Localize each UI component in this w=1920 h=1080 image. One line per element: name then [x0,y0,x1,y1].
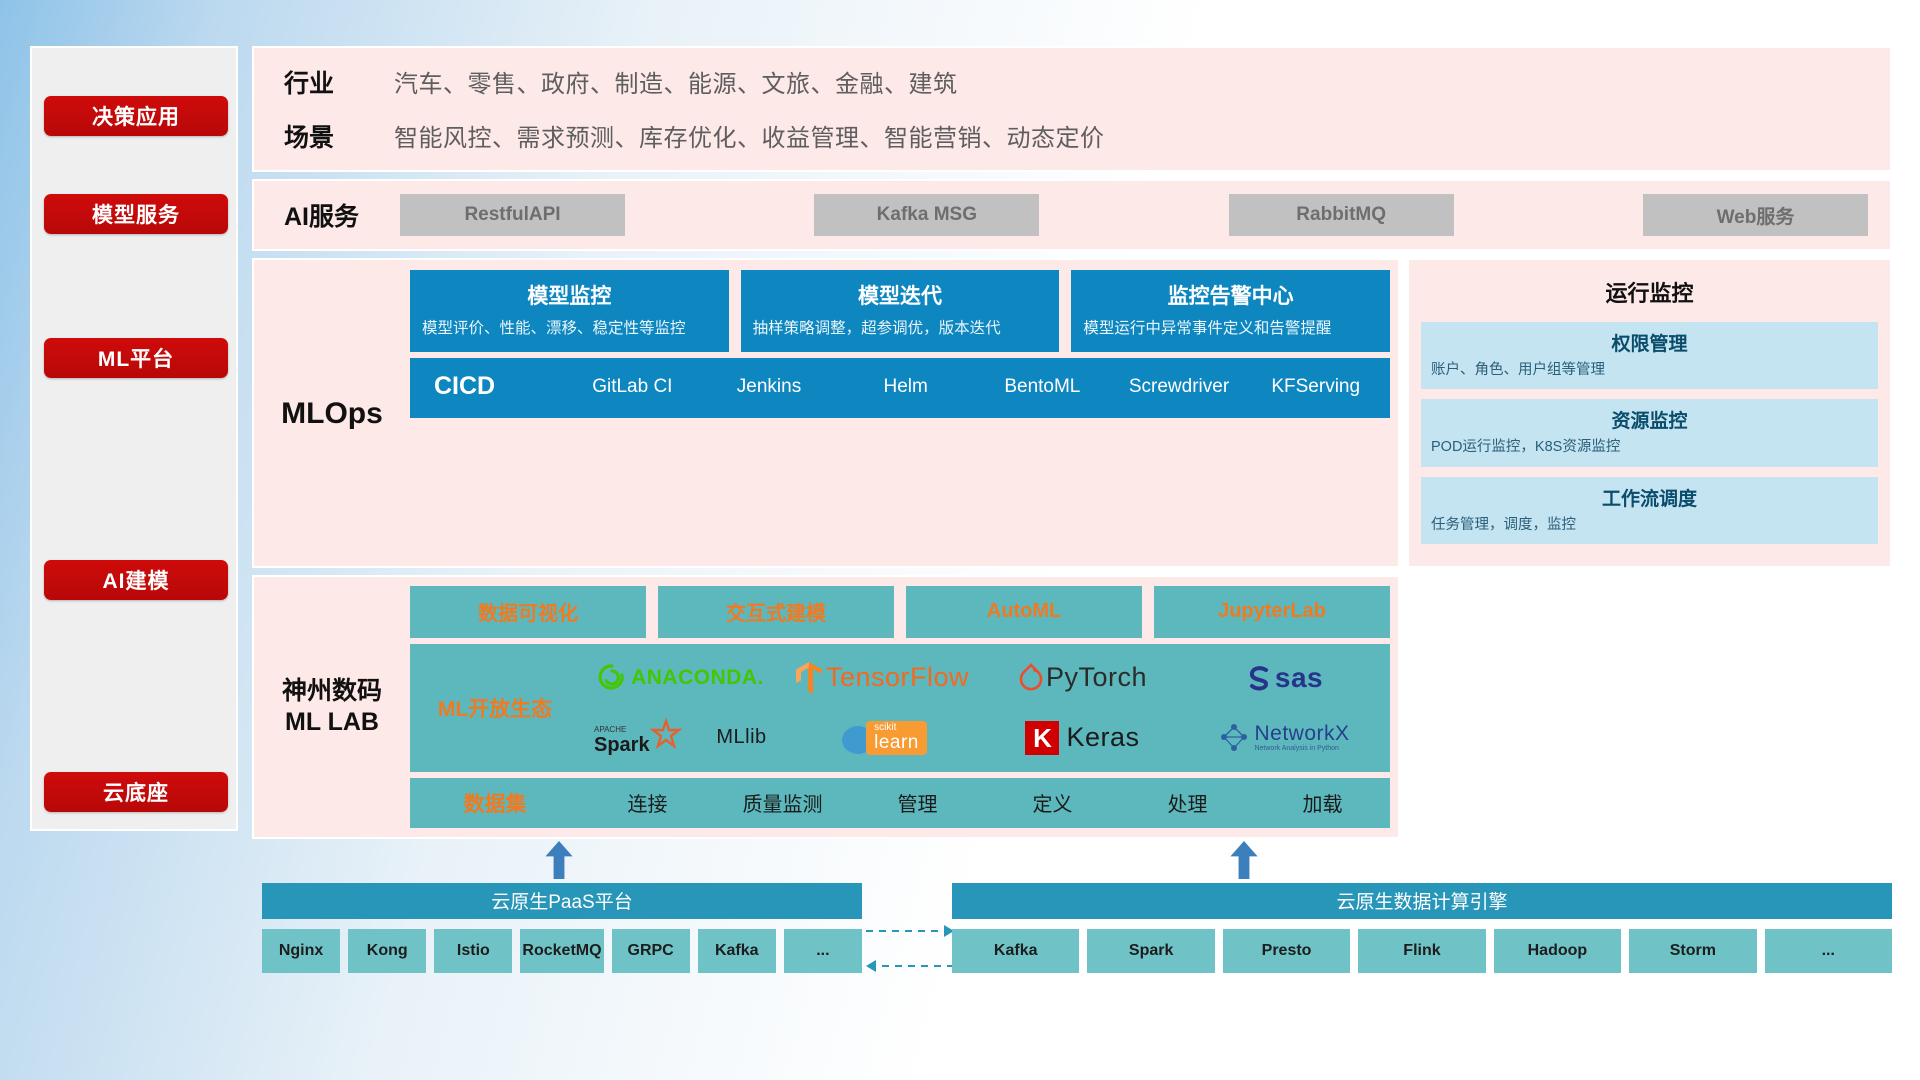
rail-item-cloud-base[interactable]: 云底座 [44,772,228,812]
paas-platform-header: 云原生PaaS平台 [262,883,862,919]
dataset-item-connect[interactable]: 连接 [580,788,715,817]
sas-icon [1244,663,1274,693]
ai-service-chip-restfulapi[interactable]: RestfulAPI [400,194,625,236]
networkx-icon [1217,721,1251,755]
architecture-diagram: 决策应用 模型服务 ML平台 AI建模 云底座 行业 汽车、零售、政府、制造、能… [0,0,1920,1080]
mlops-card-alert-center[interactable]: 监控告警中心 模型运行中异常事件定义和告警提醒 [1071,270,1390,352]
monitor-rail-spacer [1407,575,1892,839]
monitor-rail-title: 运行监控 [1421,276,1878,308]
ml-ecosystem-panel: ML开放生态 ANACONDA. [410,644,1390,772]
card-title: 工作流调度 [1431,484,1868,511]
scikit-learn-wordmark: learn [874,733,919,752]
paas-chip-kafka[interactable]: Kafka [698,929,776,973]
dataset-item-load[interactable]: 加载 [1255,788,1390,817]
card-desc: 账户、角色、用户组等管理 [1431,360,1868,380]
card-desc: 抽样策略调整，超参调优，版本迭代 [753,318,1048,340]
mlops-band: MLOps 模型监控 模型评价、性能、漂移、稳定性等监控 模型迭代 抽样策略调整… [252,258,1892,568]
paas-chip-istio[interactable]: Istio [434,929,512,973]
cicd-item-kfserving[interactable]: KFServing [1247,372,1384,400]
rail-item-ml-platform[interactable]: ML平台 [44,338,228,378]
industry-label: 行业 [284,64,394,100]
card-desc: 模型评价、性能、漂移、稳定性等监控 [422,318,717,340]
card-desc: 模型运行中异常事件定义和告警提醒 [1083,318,1378,340]
compute-chip-flink[interactable]: Flink [1358,929,1485,973]
paas-chip-rocketmq[interactable]: RocketMQ [520,929,603,973]
layer-rail: 决策应用 模型服务 ML平台 AI建模 云底座 [30,46,238,831]
paas-chip-kong[interactable]: Kong [348,929,426,973]
spark-icon: APACHE Spark [594,715,712,761]
tensorflow-wordmark: TensorFlow [826,662,969,693]
arrow-up-paas-icon [542,841,576,879]
rail-item-model-service[interactable]: 模型服务 [44,194,228,234]
ai-service-chip-kafka-msg[interactable]: Kafka MSG [814,194,1039,236]
mlops-card-model-iteration[interactable]: 模型迭代 抽样策略调整，超参调优，版本迭代 [741,270,1060,352]
paas-chip-more[interactable]: ... [784,929,862,973]
dataset-item-process[interactable]: 处理 [1120,788,1255,817]
ai-service-band: AI服务 RestfulAPI Kafka MSG RabbitMQ Web服务 [252,179,1892,251]
card-title: 模型监控 [422,280,717,310]
ml-lab-band: 神州数码 ML LAB 数据可视化 交互式建模 AutoML JupyterLa… [252,575,1892,839]
cloud-base-band: 云原生PaaS平台 Nginx Kong Istio RocketMQ GRPC… [252,853,1892,1003]
rail-item-ai-modeling[interactable]: AI建模 [44,560,228,600]
dataset-item-define[interactable]: 定义 [985,788,1120,817]
card-title: 模型迭代 [753,280,1048,310]
ml-ecosystem-label: ML开放生态 [410,693,580,723]
networkx-tagline: Network Analysis in Python [1254,744,1349,753]
compute-chip-spark[interactable]: Spark [1087,929,1214,973]
mlops-label: MLOps [254,270,410,558]
mllib-wordmark: MLlib [716,726,766,749]
dataset-item-manage[interactable]: 管理 [850,788,985,817]
cicd-item-helm[interactable]: Helm [837,372,974,400]
arrow-up-compute-icon [1227,841,1261,879]
industry-row: 行业 汽车、零售、政府、制造、能源、文旅、金融、建筑 [284,64,1890,100]
ml-lab-label-line1: 神州数码 [282,676,382,707]
card-title: 监控告警中心 [1083,280,1378,310]
tensorflow-logo: TensorFlow [781,649,982,707]
lab-tool-interactive-modeling[interactable]: 交互式建模 [658,586,894,638]
industry-values: 汽车、零售、政府、制造、能源、文旅、金融、建筑 [394,64,958,99]
scikit-learn-badge: scikit learn [866,721,927,755]
card-title: 资源监控 [1431,406,1868,433]
compute-chip-kafka[interactable]: Kafka [952,929,1079,973]
monitor-rail: 运行监控 权限管理 账户、角色、用户组等管理 资源监控 POD运行监控，K8S资… [1407,258,1892,568]
dataset-label: 数据集 [410,788,580,818]
cicd-item-jenkins[interactable]: Jenkins [701,372,838,400]
cicd-item-bentoml[interactable]: BentoML [974,372,1111,400]
networkx-wordmark: NetworkX [1254,723,1349,744]
mlops-card-model-monitoring[interactable]: 模型监控 模型评价、性能、漂移、稳定性等监控 [410,270,729,352]
cicd-bar: CICD GitLab CI Jenkins Helm BentoML Scre… [410,358,1390,418]
ml-lab-label: 神州数码 ML LAB [254,586,410,828]
monitor-card-workflow[interactable]: 工作流调度 任务管理，调度，监控 [1421,477,1878,544]
cicd-item-screwdriver[interactable]: Screwdriver [1111,372,1248,400]
scikit-learn-logo: scikit learn [781,709,982,767]
keras-wordmark: Keras [1066,722,1139,753]
networkx-logo: NetworkX Network Analysis in Python [1183,709,1384,767]
pytorch-logo: PyTorch [982,649,1183,707]
cicd-label: CICD [434,372,564,401]
mlops-panel: MLOps 模型监控 模型评价、性能、漂移、稳定性等监控 模型迭代 抽样策略调整… [252,258,1400,568]
monitor-card-permission[interactable]: 权限管理 账户、角色、用户组等管理 [1421,322,1878,389]
compute-chip-more[interactable]: ... [1765,929,1892,973]
dataset-bar: 数据集 连接 质量监测 管理 定义 处理 加载 [410,778,1390,828]
anaconda-logo: ANACONDA. [580,649,781,707]
pytorch-wordmark: PyTorch [1046,662,1147,693]
ml-lab-panel: 神州数码 ML LAB 数据可视化 交互式建模 AutoML JupyterLa… [252,575,1400,839]
card-title: 权限管理 [1431,329,1868,356]
scenario-row: 场景 智能风控、需求预测、库存优化、收益管理、智能营销、动态定价 [284,118,1890,154]
rail-item-decision-app[interactable]: 决策应用 [44,96,228,136]
compute-engine-header: 云原生数据计算引擎 [952,883,1892,919]
anaconda-icon [597,663,627,693]
lab-tool-jupyterlab[interactable]: JupyterLab [1154,586,1390,638]
dataset-item-quality-monitor[interactable]: 质量监测 [715,788,850,817]
ai-service-chip-web-service[interactable]: Web服务 [1643,194,1868,236]
paas-platform-column: 云原生PaaS平台 Nginx Kong Istio RocketMQ GRPC… [262,883,862,973]
tensorflow-icon [794,661,824,695]
svg-text:Spark: Spark [594,734,650,756]
keras-icon: K [1025,721,1059,755]
card-desc: 任务管理，调度，监控 [1431,515,1868,535]
sas-wordmark: sas [1275,662,1323,694]
pytorch-icon [1018,663,1044,693]
scenario-values: 智能风控、需求预测、库存优化、收益管理、智能营销、动态定价 [394,118,1105,153]
svg-text:APACHE: APACHE [594,725,626,734]
compute-chip-storm[interactable]: Storm [1629,929,1756,973]
card-desc: POD运行监控，K8S资源监控 [1431,437,1868,457]
paas-chip-nginx[interactable]: Nginx [262,929,340,973]
ml-lab-label-line2: ML LAB [285,707,379,738]
anaconda-wordmark: ANACONDA. [631,666,764,690]
compute-engine-column: 云原生数据计算引擎 Kafka Spark Presto Flink Hadoo… [952,883,1892,973]
ai-service-label: AI服务 [284,197,394,233]
sas-logo: sas [1183,649,1384,707]
scenario-label: 场景 [284,118,394,154]
ai-service-chip-rabbitmq[interactable]: RabbitMQ [1229,194,1454,236]
compute-chip-presto[interactable]: Presto [1223,929,1350,973]
lab-tool-data-visualization[interactable]: 数据可视化 [410,586,646,638]
main-column: 行业 汽车、零售、政府、制造、能源、文旅、金融、建筑 场景 智能风控、需求预测、… [252,46,1892,1003]
monitor-card-resource[interactable]: 资源监控 POD运行监控，K8S资源监控 [1421,399,1878,466]
cicd-item-gitlab-ci[interactable]: GitLab CI [564,372,701,400]
networkx-wordmark-wrap: NetworkX Network Analysis in Python [1254,723,1349,753]
spark-mllib-logo: APACHE Spark MLlib [580,709,781,767]
compute-chip-hadoop[interactable]: Hadoop [1494,929,1621,973]
industry-scenario-band: 行业 汽车、零售、政府、制造、能源、文旅、金融、建筑 场景 智能风控、需求预测、… [252,46,1892,172]
keras-logo: K Keras [982,709,1183,767]
paas-chip-grpc[interactable]: GRPC [612,929,690,973]
lab-tool-automl[interactable]: AutoML [906,586,1142,638]
bidirectional-dashed-connector [864,921,956,981]
